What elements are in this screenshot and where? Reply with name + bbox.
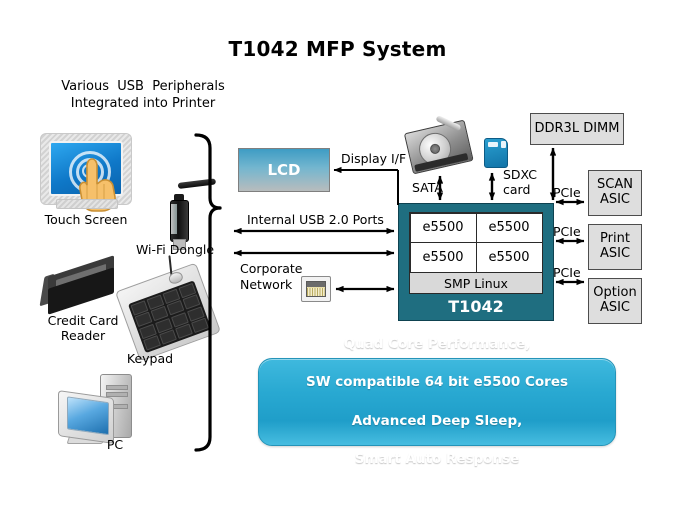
scan-asic-line1: SCAN <box>597 177 633 192</box>
print-asic-line2: ASIC <box>600 246 630 261</box>
touch-screen-icon <box>40 133 132 215</box>
print-asic-box: Print ASIC <box>588 224 642 270</box>
smp-linux-label: SMP Linux <box>410 272 542 293</box>
callout-line4: Smart Auto Response <box>306 450 568 469</box>
pcie-label-option: PCIe <box>553 266 581 280</box>
peripherals-note-line2: Integrated into Printer <box>38 97 248 112</box>
display-interface-label: Display I/F <box>341 152 406 166</box>
rj45-jack-icon <box>301 276 331 302</box>
usb-ports-label: Internal USB 2.0 Ports <box>247 213 384 227</box>
soc-core-complex: e5500 e5500 e5500 e5500 SMP Linux <box>409 212 543 294</box>
pc-label: PC <box>85 438 145 452</box>
pcie-label-print: PCIe <box>553 225 581 239</box>
t1042-soc-block: e5500 e5500 e5500 e5500 SMP Linux T1042 <box>398 203 554 321</box>
callout-line1: Quad Core Performance, <box>306 335 568 354</box>
lcd-label: LCD <box>267 161 300 179</box>
ddr3l-dimm-label: DDR3L DIMM <box>535 122 620 137</box>
sdxc-label-line1: SDXC <box>503 168 537 182</box>
page-title: T1042 MFP System <box>0 38 675 61</box>
print-asic-line1: Print <box>600 231 630 246</box>
sata-label: SATA <box>412 181 443 195</box>
network-label-line1: Corporate <box>240 262 303 276</box>
option-asic-line2: ASIC <box>600 300 630 315</box>
wifi-dongle-icon <box>160 180 230 250</box>
callout-line2: SW compatible 64 bit e5500 Cores <box>306 373 568 392</box>
touch-screen-label: Touch Screen <box>26 213 146 227</box>
sdxc-label-line2: card <box>503 183 530 197</box>
credit-card-reader-icon <box>42 262 128 318</box>
core-0: e5500 <box>410 213 477 244</box>
scan-asic-line2: ASIC <box>600 192 630 207</box>
keypad-label: Keypad <box>95 352 205 366</box>
callout-line3: Advanced Deep Sleep, <box>306 412 568 431</box>
peripherals-note-line1: Various USB Peripherals <box>38 80 248 95</box>
wifi-dongle-label: Wi-Fi Dongle <box>115 243 235 257</box>
scan-asic-box: SCAN ASIC <box>588 170 642 216</box>
hard-disk-icon <box>408 126 474 174</box>
core-3: e5500 <box>476 242 543 273</box>
feature-callout: Quad Core Performance, SW compatible 64 … <box>258 358 616 446</box>
pcie-label-scan: PCIe <box>553 186 581 200</box>
lcd-box: LCD <box>238 148 330 192</box>
diagram-canvas: T1042 MFP System Various USB Peripherals… <box>0 0 675 506</box>
ddr3l-dimm-box: DDR3L DIMM <box>530 113 624 145</box>
option-asic-line1: Option <box>593 285 636 300</box>
core-2: e5500 <box>410 242 477 273</box>
t1042-label: T1042 <box>399 297 553 316</box>
pc-icon <box>52 372 142 448</box>
sdxc-card-icon <box>484 138 510 170</box>
core-1: e5500 <box>476 213 543 244</box>
option-asic-box: Option ASIC <box>588 278 642 324</box>
network-label-line2: Network <box>240 278 292 292</box>
